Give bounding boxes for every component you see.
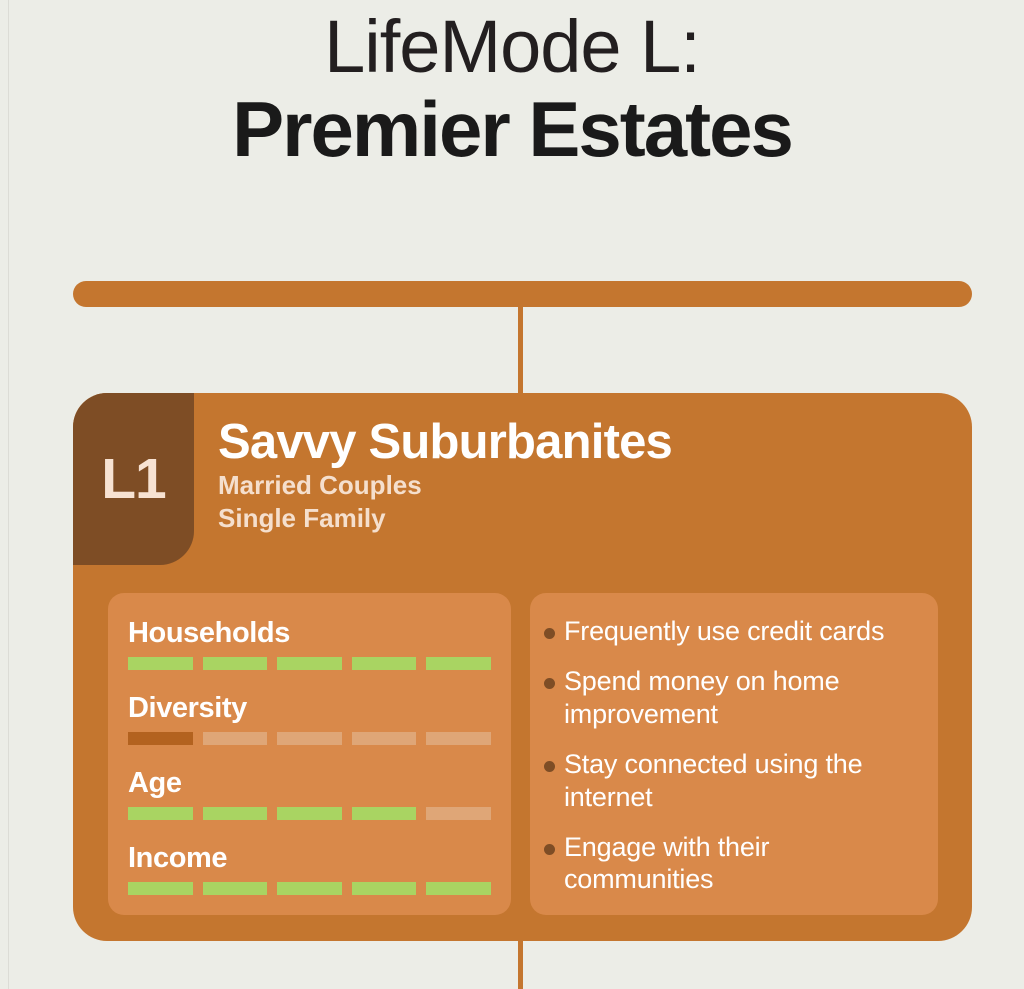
- metric-segment-filled: [277, 807, 342, 820]
- metric-segment-filled: [352, 807, 417, 820]
- bullet-dot-icon: [544, 844, 555, 855]
- metric-segment-filled: [128, 882, 193, 895]
- segment-panels: HouseholdsDiversityAgeIncome Frequently …: [108, 593, 938, 915]
- segment-subtitle-2: Single Family: [218, 502, 938, 535]
- metric-segment-filled: [352, 882, 417, 895]
- metric-label: Age: [128, 767, 491, 800]
- list-item: Stay connected using the internet: [544, 748, 920, 813]
- metric-label: Income: [128, 842, 491, 875]
- metric-segment-empty: [277, 732, 342, 745]
- trait-text: Spend money on home improvement: [564, 665, 920, 730]
- trait-text: Stay connected using the internet: [564, 748, 920, 813]
- metric-segment-filled: [277, 657, 342, 670]
- metric-segment-filled: [128, 657, 193, 670]
- segment-subtitle-1: Married Couples: [218, 469, 938, 502]
- traits-panel: Frequently use credit cardsSpend money o…: [530, 593, 938, 915]
- segment-card-l1[interactable]: L1 Savvy Suburbanites Married Couples Si…: [73, 393, 972, 941]
- segment-code-badge: L1: [73, 393, 194, 565]
- metric-row: Diversity: [128, 692, 491, 745]
- connector-line-top: [518, 303, 523, 395]
- metric-segment-filled: [426, 882, 491, 895]
- list-item: Spend money on home improvement: [544, 665, 920, 730]
- metric-bar: [128, 732, 491, 745]
- segment-header: Savvy Suburbanites Married Couples Singl…: [218, 416, 938, 535]
- metric-row: Households: [128, 617, 491, 670]
- metric-label: Diversity: [128, 692, 491, 725]
- metric-bar: [128, 882, 491, 895]
- page-title: LifeMode L: Premier Estates: [0, 8, 1024, 174]
- bullet-dot-icon: [544, 761, 555, 772]
- metric-segment-filled: [203, 882, 268, 895]
- connector-line-bottom: [518, 940, 523, 989]
- segment-code-label: L1: [101, 451, 166, 508]
- metric-bar: [128, 807, 491, 820]
- metric-segment-empty: [352, 732, 417, 745]
- metric-segment-filled: [426, 657, 491, 670]
- metric-segment-filled: [128, 732, 193, 745]
- metrics-panel: HouseholdsDiversityAgeIncome: [108, 593, 511, 915]
- list-item: Frequently use credit cards: [544, 615, 920, 647]
- metric-row: Income: [128, 842, 491, 895]
- list-item: Engage with their communities: [544, 831, 920, 896]
- metric-segment-empty: [203, 732, 268, 745]
- bullet-dot-icon: [544, 678, 555, 689]
- metric-segment-filled: [352, 657, 417, 670]
- trait-text: Engage with their communities: [564, 831, 920, 896]
- bullet-dot-icon: [544, 628, 555, 639]
- metric-segment-empty: [426, 807, 491, 820]
- metric-segment-filled: [203, 657, 268, 670]
- lifemode-eyebrow: LifeMode L:: [0, 8, 1024, 86]
- segment-name: Savvy Suburbanites: [218, 416, 938, 469]
- metric-label: Households: [128, 617, 491, 650]
- metric-segment-filled: [203, 807, 268, 820]
- metric-bar: [128, 657, 491, 670]
- trait-text: Frequently use credit cards: [564, 615, 884, 647]
- metric-segment-empty: [426, 732, 491, 745]
- lifemode-title: Premier Estates: [0, 86, 1024, 173]
- metric-row: Age: [128, 767, 491, 820]
- metric-segment-filled: [277, 882, 342, 895]
- metric-segment-filled: [128, 807, 193, 820]
